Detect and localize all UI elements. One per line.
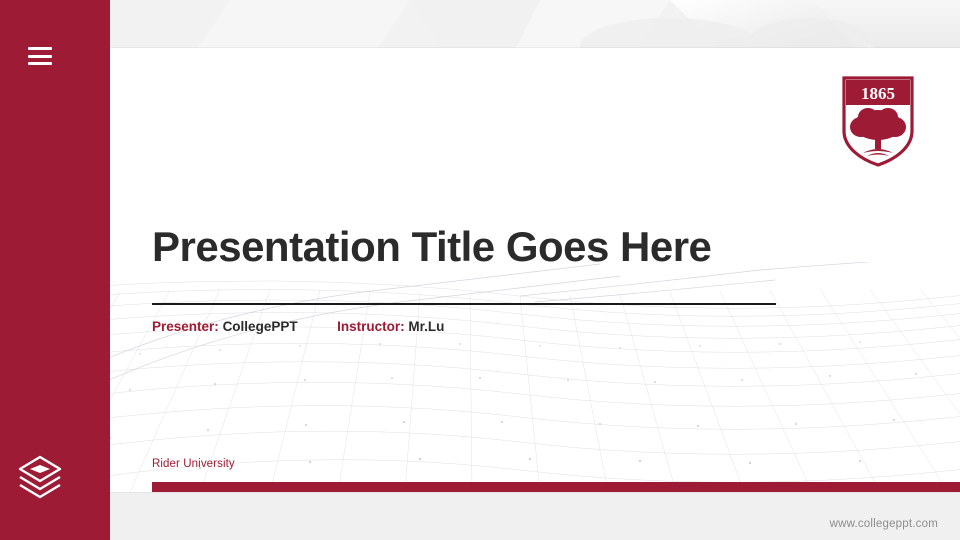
presenter-value: CollegePPT	[223, 319, 298, 334]
presenter-label: Presenter:	[152, 319, 219, 334]
shield-crest-icon: 1865	[841, 75, 915, 168]
hamburger-line	[28, 47, 52, 50]
layers-stack-icon[interactable]	[16, 451, 64, 499]
organization-name: Rider University	[152, 458, 235, 470]
hamburger-menu-icon[interactable]	[28, 47, 52, 65]
presentation-meta: Presenter: CollegePPT Instructor: Mr.Lu	[152, 319, 444, 334]
left-sidebar	[0, 0, 110, 540]
presentation-editor: 1865 Presentation Title Goes Here Presen…	[0, 0, 960, 540]
instructor-value: Mr.Lu	[408, 319, 444, 334]
slide-accent-bar	[152, 482, 960, 492]
hamburger-line	[28, 55, 52, 58]
shield-year: 1865	[861, 84, 895, 103]
website-footer: www.collegeppt.com	[830, 518, 938, 530]
slide-canvas[interactable]: 1865 Presentation Title Goes Here Presen…	[80, 48, 960, 492]
page-title: Presentation Title Goes Here	[152, 225, 892, 269]
hamburger-line	[28, 62, 52, 65]
title-separator-rule	[152, 303, 776, 305]
university-shield-logo: 1865	[841, 75, 915, 168]
instructor-label: Instructor:	[337, 319, 405, 334]
